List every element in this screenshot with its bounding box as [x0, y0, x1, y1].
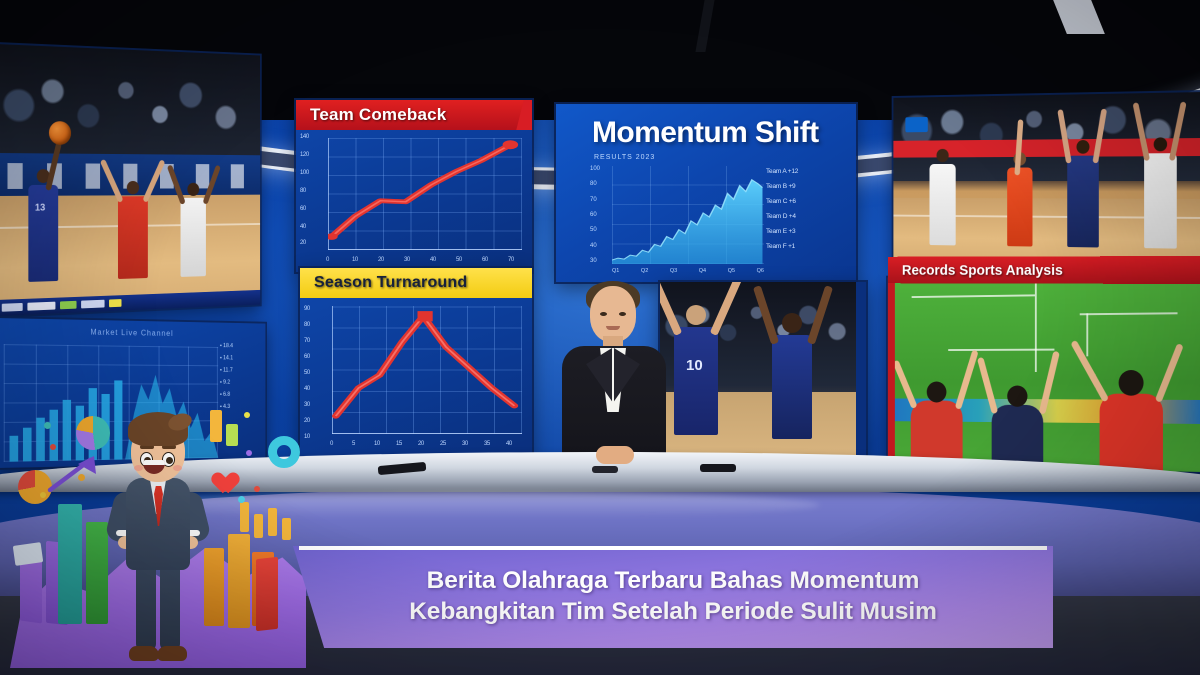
x-tick: 50	[456, 257, 462, 263]
momentum-y-axis-labels: 100 80 70 60 50 40 30	[590, 166, 610, 264]
x-tick: 5	[352, 441, 355, 447]
player-head	[936, 149, 948, 162]
studio-scene: 13 Market Live Channel	[0, 0, 1200, 675]
heart-icon	[208, 464, 232, 486]
mascot-bar-orange-1	[204, 548, 224, 626]
right-panel-headline: Records Sports Analysis	[888, 256, 1200, 284]
panel-left-basketball[interactable]: 13	[0, 44, 260, 316]
mascot-bar-orange-2	[228, 534, 250, 628]
anchor-mouth	[606, 326, 620, 330]
mascot-leg-right	[160, 564, 180, 650]
mascot-shoe-left	[129, 646, 159, 661]
celebrating-player-10: 10	[674, 327, 718, 435]
x-tick: 40	[430, 257, 436, 263]
y-tick: 50	[304, 370, 310, 376]
mascot-dot-teal	[44, 422, 51, 429]
pitch-line	[948, 349, 1054, 351]
mascot-shoe-right	[157, 646, 187, 661]
player-head	[782, 313, 802, 333]
mascot-pie-chart-top	[76, 416, 110, 450]
y-tick: 40	[300, 224, 306, 230]
ticker-chip	[81, 300, 104, 309]
x-tick: 70	[508, 257, 514, 263]
x-tick: 20	[418, 441, 424, 447]
legend-entry: Team D +4	[766, 213, 846, 220]
pitch-line	[912, 294, 1035, 298]
player-white-right	[1144, 153, 1177, 248]
x-tick: Q2	[641, 268, 648, 274]
x-tick: 30	[462, 441, 468, 447]
fan-head	[1007, 386, 1027, 407]
mascot-hair	[128, 412, 188, 446]
y-tick: 120	[300, 152, 309, 158]
mascot-float-bar-6	[226, 424, 238, 446]
x-tick: Q3	[670, 268, 677, 274]
turnaround-line-series	[332, 306, 522, 434]
y-tick: 70	[304, 338, 310, 344]
player-orange	[1007, 167, 1032, 246]
y-tick: 80	[304, 322, 310, 328]
panel-momentum-shift[interactable]: Momentum Shift RESULTS 2023 100 80 70 60…	[556, 104, 856, 282]
player-jersey-number: 13	[35, 203, 45, 214]
legend-entry: Team C +6	[766, 198, 846, 205]
y-tick: 100	[590, 166, 610, 172]
y-tick: 90	[304, 306, 310, 312]
x-tick: 40	[506, 441, 512, 447]
x-tick: Q4	[699, 268, 706, 274]
news-anchor	[556, 286, 672, 472]
anchor-eye-left	[600, 312, 607, 316]
y-tick: 50	[590, 227, 610, 233]
headline-top-rule	[299, 546, 1047, 550]
panel-team-celebration[interactable]: 10	[660, 282, 866, 460]
desk-microphone-right	[700, 464, 736, 472]
panel-edge-red	[888, 277, 895, 466]
mascot-ring-chart	[268, 436, 300, 468]
mascot-float-bar-2	[254, 514, 263, 538]
ticker-chip	[27, 302, 55, 311]
y-tick: 80	[590, 181, 610, 187]
mascot-cheek-right	[173, 465, 182, 471]
mascot-bar-red	[256, 557, 278, 631]
legend-entry: Team F +1	[766, 243, 846, 250]
y-tick: 100	[300, 170, 309, 176]
fan-red-right	[1100, 394, 1163, 472]
player-red	[118, 197, 148, 280]
player-head	[1076, 140, 1089, 154]
ticker-chip	[2, 303, 23, 312]
x-tick: Q5	[728, 268, 735, 274]
player-navy	[1067, 155, 1099, 247]
mascot-mini-card	[13, 542, 44, 566]
y-tick: 140	[300, 134, 309, 140]
y-tick: 70	[590, 197, 610, 203]
broadcast-logo	[905, 117, 927, 132]
x-tick: 25	[440, 441, 446, 447]
celebrating-player-2	[772, 335, 812, 439]
momentum-chart: Q1 Q2 Q3 Q4 Q5 Q6	[612, 166, 764, 264]
turnaround-chart: 90 80 70 60 50 40 30 20 10 0 5 10 15 20 …	[300, 298, 532, 456]
panel-team-comeback[interactable]: Team Comeback 140 120 100 80 60 40 20 0	[296, 100, 532, 272]
x-tick: 35	[484, 441, 490, 447]
y-tick: 60	[304, 354, 310, 360]
momentum-area-series	[612, 166, 764, 264]
fan-head	[1119, 370, 1144, 396]
comeback-line-series	[328, 138, 522, 250]
turnaround-title: Season Turnaround	[300, 268, 532, 298]
x-tick: Q6	[757, 268, 764, 274]
y-tick: 40	[590, 243, 610, 249]
x-tick: 10	[352, 257, 358, 263]
mascot-leg-left	[136, 564, 156, 650]
mascot-float-bar-5	[210, 410, 222, 442]
mascot-dot-cyan	[238, 496, 245, 503]
player-head	[686, 305, 706, 325]
player-white-left	[930, 164, 956, 245]
y-tick: 60	[300, 206, 306, 212]
y-tick: 20	[300, 240, 306, 246]
mascot-dot-yellow	[244, 412, 250, 418]
comeback-title: Team Comeback	[296, 100, 532, 130]
y-tick: 60	[590, 212, 610, 218]
player-head	[187, 183, 199, 196]
fan-head	[927, 382, 947, 403]
stats-chart-title: Market Live Channel	[90, 328, 173, 338]
x-tick: 30	[404, 257, 410, 263]
anchor-head	[590, 286, 636, 342]
mascot-character	[112, 412, 204, 670]
basketball	[49, 121, 71, 145]
player-head	[1154, 137, 1167, 151]
ticker-chip	[109, 299, 121, 307]
mascot-bar-green	[86, 522, 108, 624]
mascot-bar-teal	[58, 504, 82, 624]
momentum-legend: Team A +12 Team B +9 Team C +6 Team D +4…	[766, 168, 846, 250]
player-head	[127, 181, 139, 194]
legend-entry: Team B +9	[766, 183, 846, 190]
mascot-cheek-left	[134, 465, 143, 471]
comeback-series-wrap	[328, 138, 522, 250]
mascot-businessman-analyst	[0, 392, 312, 675]
legend-entry: Team E +3	[766, 228, 846, 235]
anchor-hands	[596, 446, 634, 464]
panel-edge	[856, 282, 866, 460]
player-white	[181, 198, 206, 277]
mascot-dot-red	[50, 444, 56, 450]
momentum-x-axis-labels: Q1 Q2 Q3 Q4 Q5 Q6	[612, 268, 764, 274]
anchor-eye-right	[619, 312, 626, 316]
mascot-float-bar-1	[240, 502, 249, 532]
turnaround-series-wrap	[332, 306, 522, 434]
headline-line-2: Kebangkitan Tim Setelah Periode Sulit Mu…	[409, 596, 937, 627]
x-tick: 60	[482, 257, 488, 263]
headline-line-1: Berita Olahraga Terbaru Bahas Momentum	[427, 565, 920, 596]
x-tick: 0	[326, 257, 329, 263]
legend-entry: Team A +12	[766, 168, 846, 175]
x-tick: Q1	[612, 268, 619, 274]
y-tick: 80	[300, 188, 306, 194]
desk-teleprompter	[592, 466, 618, 473]
pitch-line	[1080, 312, 1178, 315]
mascot-float-bar-3	[268, 508, 277, 536]
mascot-float-bar-4	[282, 518, 291, 540]
x-tick: 15	[396, 441, 402, 447]
pitch-line	[1086, 313, 1088, 356]
lower-third-headline: Berita Olahraga Terbaru Bahas Momentum K…	[293, 546, 1053, 648]
mascot-dot-purple	[246, 450, 252, 456]
panel-season-turnaround[interactable]: Season Turnaround 90 80 70 60 50 40 30 2…	[300, 268, 532, 456]
comeback-chart: 140 120 100 80 60 40 20 0 10 20 30 40 50…	[296, 130, 532, 272]
growth-arrow-icon	[46, 454, 104, 494]
pitch-line	[1035, 283, 1037, 372]
panel-right-match[interactable]	[893, 92, 1200, 270]
x-tick: 10	[374, 441, 380, 447]
player-blue-13: 13	[28, 185, 58, 282]
y-tick: 30	[590, 258, 610, 264]
x-tick: 0	[330, 441, 333, 447]
momentum-title: Momentum Shift	[592, 116, 819, 150]
x-tick: 20	[378, 257, 384, 263]
momentum-subtitle: RESULTS 2023	[594, 154, 655, 161]
player-jersey-number: 10	[686, 357, 703, 374]
ticker-chip	[60, 301, 77, 309]
mascot-dot-red-2	[254, 486, 260, 492]
panel-soccer-fans[interactable]	[888, 272, 1200, 472]
